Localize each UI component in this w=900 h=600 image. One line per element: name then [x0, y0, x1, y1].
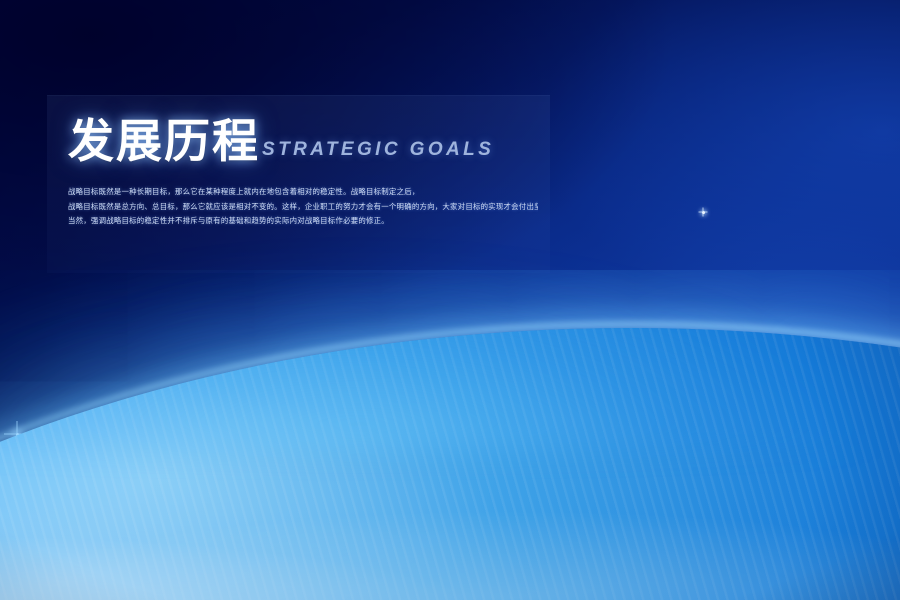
strategic-goals-banner: 发展历程 STRATEGIC GOALS 战略目标既然是一种长期目标，那么它在某… [0, 0, 900, 600]
body-copy: 战略目标既然是一种长期目标，那么它在某种程度上就内在地包含着相对的稳定性。战略目… [68, 185, 538, 229]
earth-sphere [0, 328, 900, 600]
earth-horizon [0, 270, 900, 600]
banner-heading: 发展历程 STRATEGIC GOALS [68, 118, 494, 164]
earth-terminator-shadow [0, 328, 900, 600]
page-title: 发展历程 [68, 118, 260, 164]
body-line-1: 战略目标既然是一种长期目标，那么它在某种程度上就内在地包含着相对的稳定性。战略目… [68, 185, 538, 200]
page-subtitle: STRATEGIC GOALS [262, 139, 494, 164]
body-line-3: 当然，强调战略目标的稳定性并不排斥与原有的基础和趋势的实际内对战略目标作必要的修… [68, 214, 538, 229]
body-line-2: 战略目标既然是总方向、总目标，那么它就应该是相对不变的。这样，企业职工的努力才会… [68, 200, 538, 215]
